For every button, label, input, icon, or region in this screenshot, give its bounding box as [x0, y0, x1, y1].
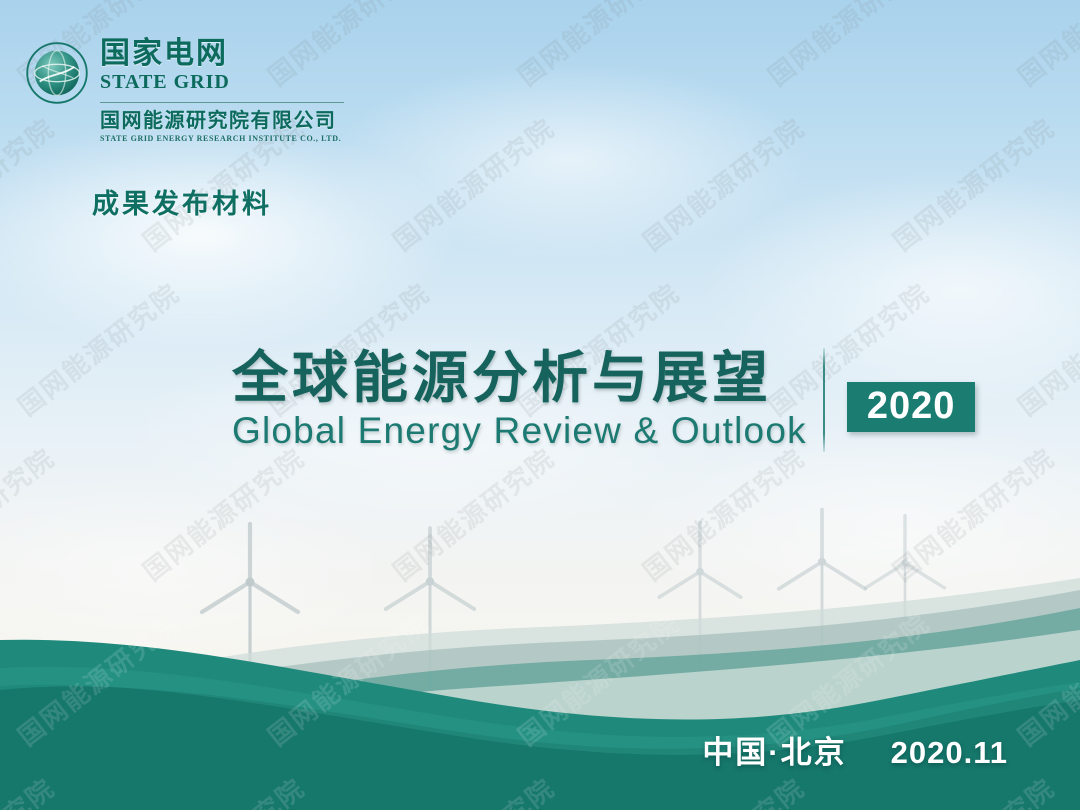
year-badge: 2020 — [847, 382, 976, 432]
brand-name-en: STATE GRID — [100, 71, 344, 94]
page-title-cn: 全球能源分析与展望 — [232, 348, 807, 408]
brand-name-cn: 国家电网 — [100, 38, 344, 70]
presentation-cover-slide: 国网能源研究院国网能源研究院国网能源研究院国网能源研究院国网能源研究院国网能源研… — [0, 0, 1080, 810]
logo-divider — [100, 102, 344, 103]
footer-place: 中国·北京 — [702, 727, 846, 772]
title-area: 全球能源分析与展望 Global Energy Review & Outlook… — [232, 348, 975, 452]
state-grid-globe-emblem-icon — [26, 42, 88, 104]
footer-date: 2020.11 — [891, 735, 1008, 771]
institute-name-cn: 国网能源研究院有限公司 — [100, 110, 344, 132]
logo-block: 国家电网 STATE GRID 国网能源研究院有限公司 STATE GRID E… — [26, 38, 344, 143]
title-texts: 全球能源分析与展望 Global Energy Review & Outlook — [232, 348, 823, 452]
kicker-label: 成果发布材料 — [92, 182, 272, 221]
title-divider — [823, 348, 825, 452]
institute-name-en: STATE GRID ENERGY RESEARCH INSTITUTE CO.… — [100, 135, 344, 144]
page-title-en: Global Energy Review & Outlook — [232, 410, 807, 451]
footer: 中国·北京 2020.11 — [702, 727, 1008, 772]
